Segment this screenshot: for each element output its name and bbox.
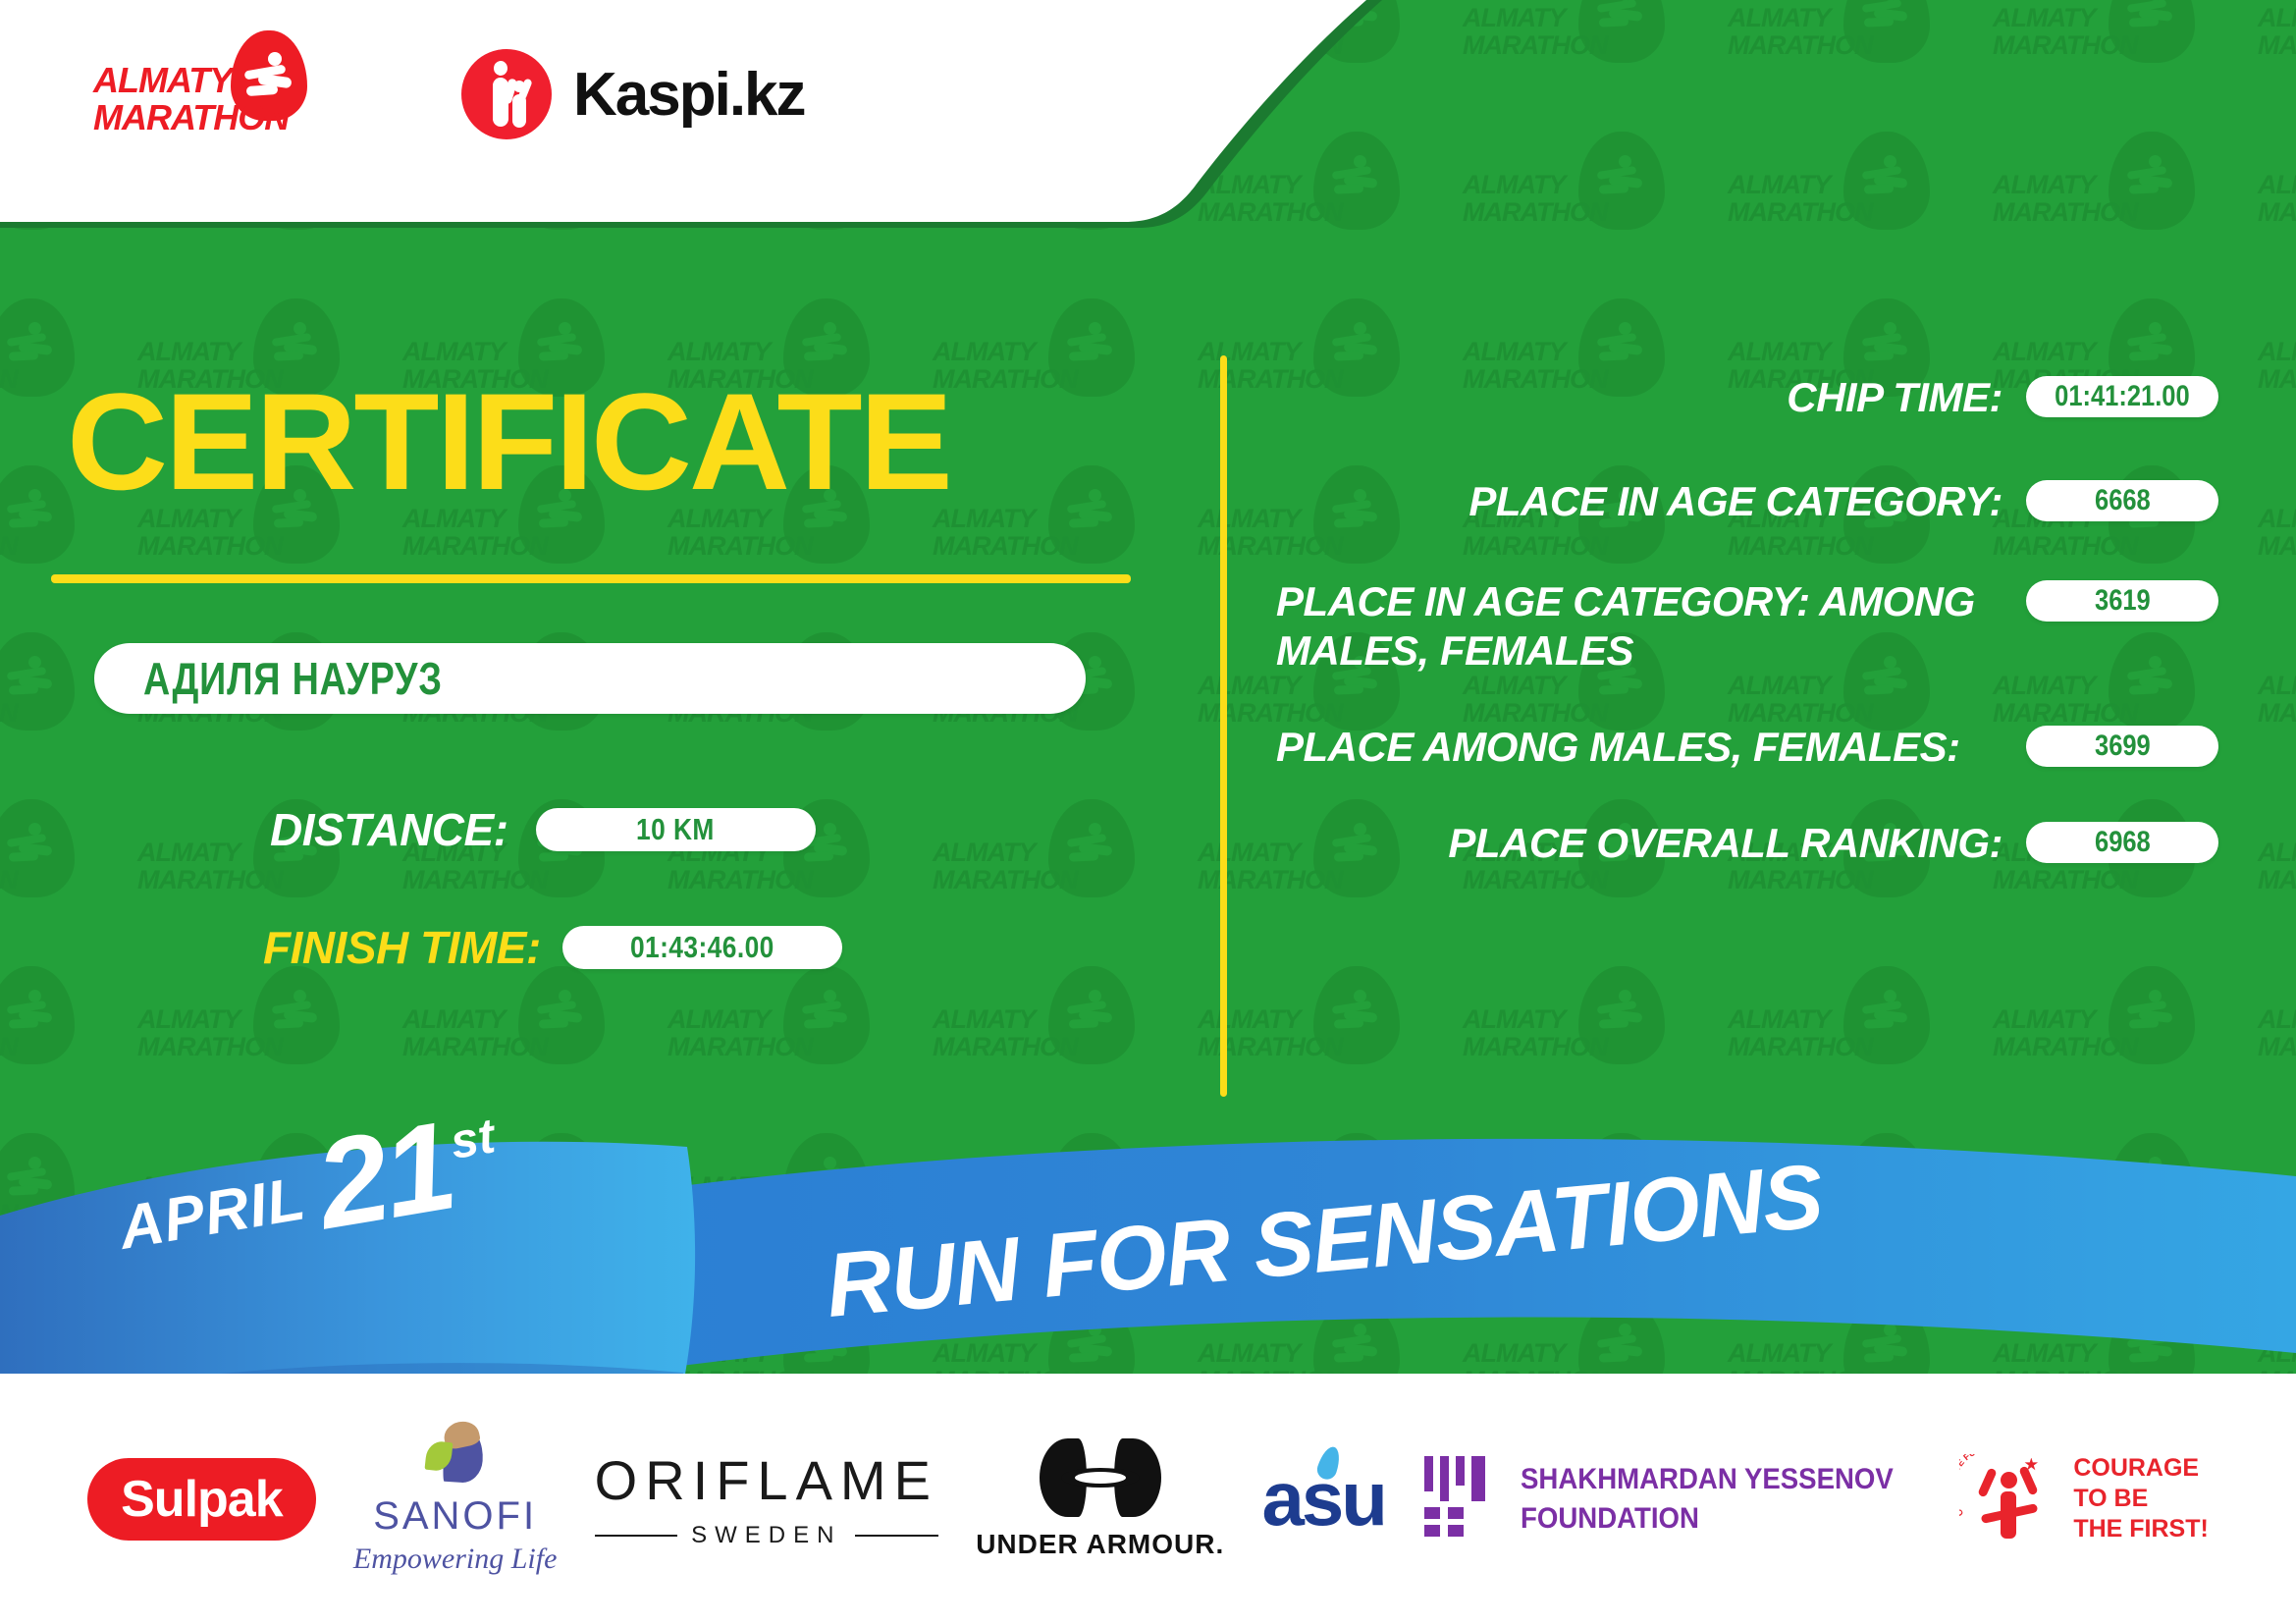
place-age-category-gender-label: PLACE IN AGE CATEGORY: AMONG MALES, FEMA… [1276, 577, 2026, 676]
sponsor-item: SANOFI Empowering Life [353, 1422, 558, 1576]
finish-time-label: FINISH TIME: [263, 921, 541, 974]
yessenov-foundation-logo: SHAKHMARDAN YESSENOV FOUNDATION [1422, 1456, 1926, 1543]
stat-row: CHIP TIME: 01:41:21.00 [1276, 373, 2218, 422]
sponsor-item: asu [1262, 1454, 1385, 1543]
under-armour-name: UNDER ARMOUR. [976, 1529, 1224, 1560]
sulpak-logo: Sulpak [87, 1458, 316, 1541]
participant-name-field: АДИЛЯ НАУРУЗ [94, 643, 1086, 714]
distance-label: DISTANCE: [270, 803, 508, 856]
yessenov-line-2: FOUNDATION [1521, 1499, 1894, 1539]
place-among-gender-label: PLACE AMONG MALES, FEMALES: [1276, 723, 2026, 772]
place-among-gender-value-pill: 3699 [2026, 726, 2218, 767]
sponsor-item: Sulpak [87, 1458, 316, 1541]
sponsor-item: UNDER ARMOUR. [976, 1438, 1224, 1560]
distance-value: 10 KM [636, 812, 715, 847]
sponsor-item: CORPORATE FUND COURAGE TO BE THE FIRST! [1963, 1450, 2209, 1548]
under-armour-logo: UNDER ARMOUR. [976, 1438, 1224, 1560]
oriflame-logo: ORIFLAME SWEDEN [595, 1448, 938, 1549]
yessenov-line-1: SHAKHMARDAN YESSENOV [1521, 1460, 1894, 1499]
yessenov-name: SHAKHMARDAN YESSENOV FOUNDATION [1521, 1460, 1926, 1539]
sponsor-item: ORIFLAME SWEDEN [595, 1448, 938, 1549]
place-age-category-gender-value-pill: 3619 [2026, 580, 2218, 622]
stat-row: PLACE IN AGE CATEGORY: 6668 [1276, 477, 2218, 526]
sanofi-tagline: Empowering Life [353, 1543, 558, 1576]
event-day: 21 [310, 1110, 460, 1241]
courage-line-1: COURAGE [2073, 1453, 2209, 1484]
courage-person-icon: CORPORATE FUND [1963, 1450, 2057, 1548]
place-overall-label: PLACE OVERALL RANKING: [1276, 819, 2026, 868]
chip-time-value: 01:41:21.00 [2055, 380, 2190, 413]
oriflame-name: ORIFLAME [595, 1448, 938, 1512]
place-age-category-value-pill: 6668 [2026, 480, 2218, 521]
vertical-divider [1220, 355, 1227, 1097]
place-age-category-gender-value: 3619 [2095, 584, 2151, 618]
place-age-category-value: 6668 [2095, 484, 2151, 517]
sanofi-logo: SANOFI Empowering Life [353, 1422, 558, 1576]
place-age-category-label: PLACE IN AGE CATEGORY: [1276, 477, 2026, 526]
sanofi-name: SANOFI [373, 1494, 537, 1539]
place-overall-value: 6968 [2095, 826, 2151, 859]
place-among-gender-value: 3699 [2095, 730, 2151, 763]
courage-line-2: TO BE [2073, 1484, 2209, 1514]
courage-fund-text: COURAGE TO BE THE FIRST! [2073, 1453, 2209, 1544]
title-underline [51, 574, 1131, 583]
sponsor-item: SHAKHMARDAN YESSENOV FOUNDATION [1422, 1456, 1926, 1543]
stat-row: PLACE OVERALL RANKING: 6968 [1276, 819, 2218, 868]
oriflame-country: SWEDEN [677, 1522, 855, 1549]
distance-value-pill: 10 KM [536, 808, 816, 851]
sponsors-row: Sulpak SANOFI Empowering Life ORIFLAME S… [0, 1422, 2296, 1576]
yessenov-mark-icon [1422, 1456, 1497, 1543]
asu-logo: asu [1262, 1454, 1385, 1543]
divider-line [855, 1535, 937, 1537]
label-line-1: PLACE AMONG MALES, [1276, 724, 1742, 770]
distance-row: DISTANCE: 10 KM [270, 803, 816, 856]
oriflame-sub: SWEDEN [595, 1522, 938, 1549]
place-overall-value-pill: 6968 [2026, 822, 2218, 863]
finish-time-value-pill: 01:43:46.00 [562, 926, 842, 969]
finish-time-value: 01:43:46.00 [630, 930, 774, 965]
sanofi-mark-icon [424, 1422, 487, 1487]
under-armour-icon [1040, 1438, 1161, 1517]
divider-line [595, 1535, 677, 1537]
stat-row: PLACE AMONG MALES, FEMALES: 3699 [1276, 723, 2218, 772]
event-day-suffix: st [447, 1107, 499, 1170]
label-line-1: PLACE IN AGE CATEGORY: [1276, 578, 1810, 624]
certificate-canvas: ALMATYMARATHONALMATYMARATHONALMATYMARATH… [0, 0, 2296, 1624]
stat-row: PLACE IN AGE CATEGORY: AMONG MALES, FEMA… [1276, 577, 2218, 676]
page-title: CERTIFICATE [67, 373, 950, 511]
label-line-2: FEMALES: [1753, 724, 1960, 770]
chip-time-label: CHIP TIME: [1276, 373, 2026, 422]
stats-list: CHIP TIME: 01:41:21.00 PLACE IN AGE CATE… [1276, 373, 2218, 913]
courage-fund-logo: CORPORATE FUND COURAGE TO BE THE FIRST! [1963, 1450, 2209, 1548]
finish-time-row: FINISH TIME: 01:43:46.00 [263, 921, 842, 974]
courage-line-3: THE FIRST! [2073, 1514, 2209, 1544]
participant-name: АДИЛЯ НАУРУЗ [143, 652, 443, 705]
chip-time-value-pill: 01:41:21.00 [2026, 376, 2218, 417]
sponsors-footer: Sulpak SANOFI Empowering Life ORIFLAME S… [0, 1374, 2296, 1624]
